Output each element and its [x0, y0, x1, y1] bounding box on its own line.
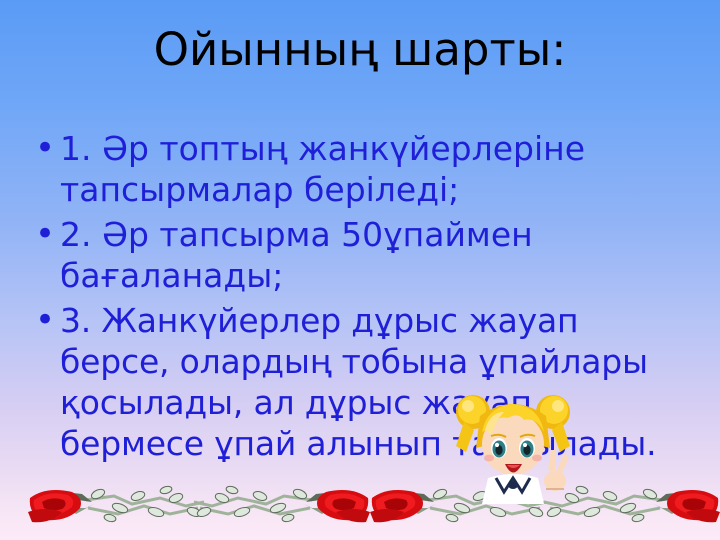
rose-cluster-icon [190, 478, 370, 530]
bullet-marker-icon: • [30, 214, 60, 255]
rose-cluster-icon [370, 478, 550, 530]
bullet-text: 1. Әр топтың жанкүйерлеріне тапсырмалар … [60, 128, 680, 210]
bullet-marker-icon: • [30, 300, 60, 341]
list-item: • 2. Әр тапсырма 50ұпаймен бағаланады; [30, 214, 680, 296]
rose-vine-border [0, 474, 720, 540]
slide-canvas: Ойынның шарты: • 1. Әр топтың жанкүйерле… [0, 0, 720, 540]
list-item: • 3. Жанкүйерлер дұрыс жауап берсе, олар… [30, 300, 680, 464]
rose-cluster-icon [540, 478, 720, 530]
rose-cluster-icon [28, 478, 208, 530]
bullet-text: 2. Әр тапсырма 50ұпаймен бағаланады; [60, 214, 680, 296]
bullet-list: • 1. Әр топтың жанкүйерлеріне тапсырмала… [30, 128, 680, 468]
bullet-marker-icon: • [30, 128, 60, 169]
list-item: • 1. Әр топтың жанкүйерлеріне тапсырмала… [30, 128, 680, 210]
page-title: Ойынның шарты: [0, 26, 720, 73]
bullet-text: 3. Жанкүйерлер дұрыс жауап берсе, оларды… [60, 300, 680, 464]
